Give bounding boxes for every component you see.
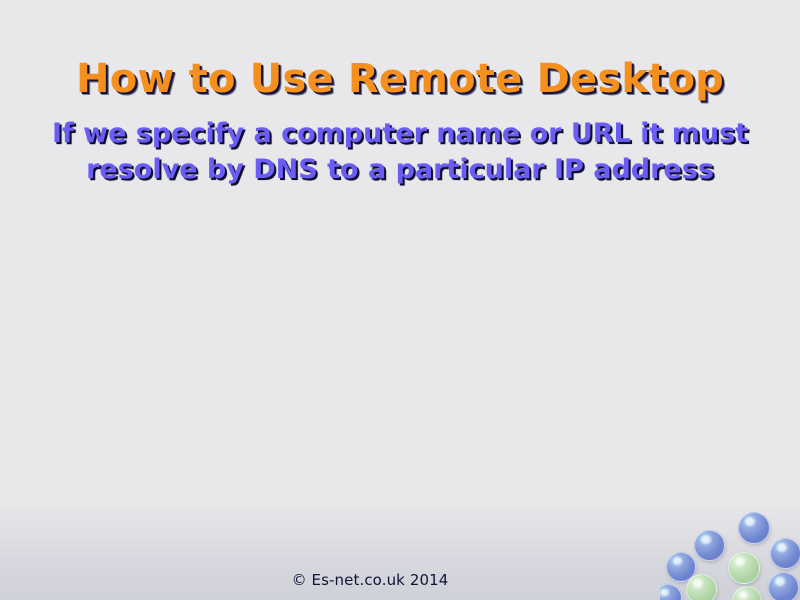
page-title: How to Use Remote Desktop (0, 58, 800, 101)
copyright-notice: © Es-net.co.uk 2014 (0, 571, 740, 589)
slide-body-content (30, 215, 770, 495)
subtitle-block: If we specify a computer name or URL it … (0, 116, 800, 187)
footer: © Es-net.co.uk 2014 (0, 571, 740, 589)
subtitle-line-2: resolve by DNS to a particular IP addres… (6, 152, 794, 188)
title-block: How to Use Remote Desktop (0, 58, 800, 101)
slide-canvas: How to Use Remote Desktop If we specify … (0, 0, 800, 600)
subtitle-line-1: If we specify a computer name or URL it … (6, 116, 794, 152)
